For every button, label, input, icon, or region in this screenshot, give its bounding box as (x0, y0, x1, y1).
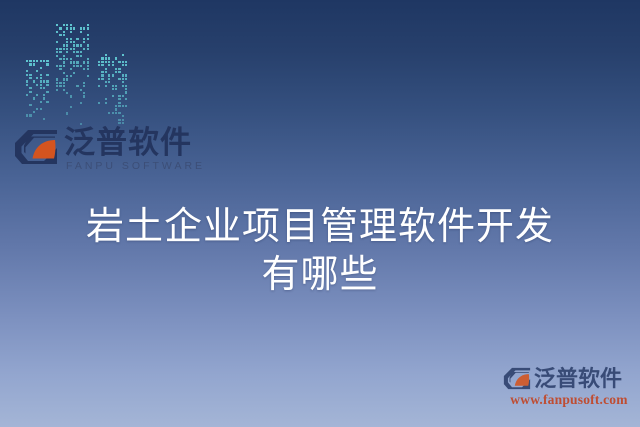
skyline-center-tower (56, 24, 92, 128)
brand-logo-wordmark: 泛普软件 FANPU SOFTWARE (64, 126, 205, 172)
page-title-line-2: 有哪些 (0, 251, 640, 299)
brand-logo: 泛普软件 FANPU SOFTWARE (14, 126, 205, 172)
page-title: 岩土企业项目管理软件开发 有哪些 (0, 203, 640, 299)
watermark-chinese: 泛普软件 (534, 367, 622, 391)
brand-logo-chinese: 泛普软件 (64, 126, 192, 159)
watermark-logo-row: 泛普软件 (503, 366, 635, 391)
page-title-line-1: 岩土企业项目管理软件开发 (0, 203, 640, 251)
watermark-url: www.fanpusoft.com (503, 392, 635, 408)
skyline-right-tower (98, 54, 130, 128)
promo-banner: 泛普软件 FANPU SOFTWARE 岩土企业项目管理软件开发 有哪些 泛普软… (0, 0, 640, 427)
brand-logo-english: FANPU SOFTWARE (64, 160, 205, 172)
watermark: 泛普软件 www.fanpusoft.com (503, 366, 635, 408)
fanpu-swoosh-logo-icon (14, 127, 58, 167)
pixel-skyline-graphic (26, 24, 138, 128)
skyline-left-tower (26, 60, 52, 128)
fanpu-swoosh-logo-icon (503, 366, 531, 391)
